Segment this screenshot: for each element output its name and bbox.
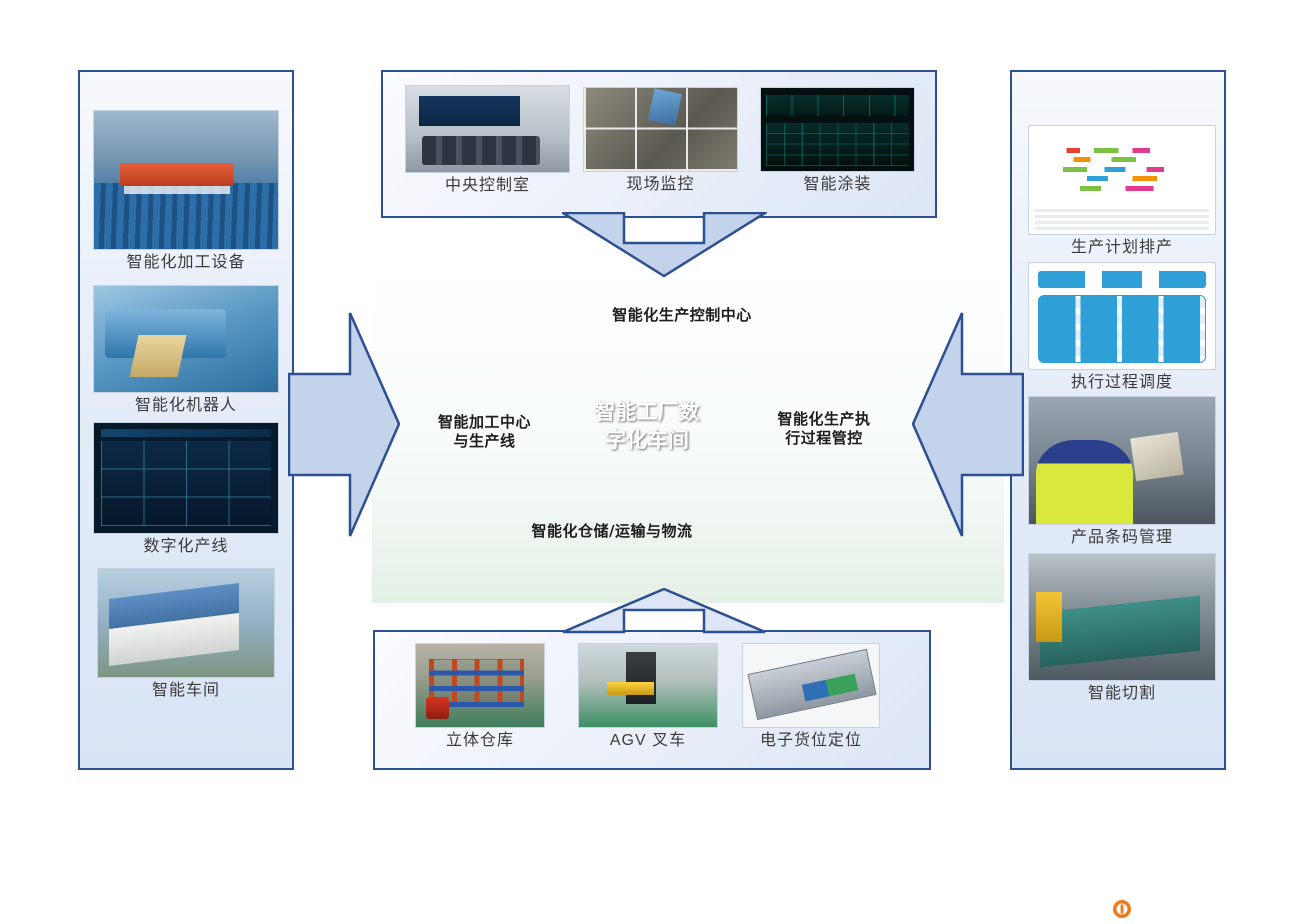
electronic-slot-locating-label: 电子货位定位 bbox=[742, 731, 880, 751]
smart-robot-label: 智能化机器人 bbox=[93, 396, 279, 416]
smart-painting-image bbox=[760, 87, 915, 172]
electronic-slot-locating-image bbox=[742, 643, 880, 728]
arrow-bottom-to-center bbox=[562, 588, 767, 634]
smart-robot-image bbox=[93, 285, 279, 393]
orange-circle-logo bbox=[1112, 899, 1132, 919]
core-label: 智能工厂数 字化车间 bbox=[567, 398, 727, 454]
production-plan-scheduling-label: 生产计划排产 bbox=[1028, 238, 1216, 258]
site-monitoring-label: 现场监控 bbox=[583, 175, 738, 195]
segment-label-execution-control: 智能化生产执 行过程管控 bbox=[754, 410, 894, 448]
arrow-right-to-center bbox=[912, 312, 1024, 537]
right-item-3[interactable]: 智能切割 bbox=[1028, 553, 1216, 704]
right-item-1[interactable]: 执行过程调度 bbox=[1028, 262, 1216, 393]
agv-forklift-image bbox=[578, 643, 718, 728]
stereoscopic-warehouse-image bbox=[415, 643, 545, 728]
smart-processing-equipment-label: 智能化加工设备 bbox=[93, 253, 279, 273]
right-item-0[interactable]: 生产计划排产 bbox=[1028, 125, 1216, 258]
left-item-1[interactable]: 智能化机器人 bbox=[93, 285, 279, 416]
top-item-2[interactable]: 智能涂装 bbox=[760, 87, 915, 195]
site-monitoring-image bbox=[583, 87, 738, 172]
digital-production-line-label: 数字化产线 bbox=[93, 537, 279, 557]
central-control-room-image bbox=[405, 85, 570, 173]
smart-workshop-label: 智能车间 bbox=[97, 681, 275, 701]
left-item-3[interactable]: 智能车间 bbox=[97, 568, 275, 701]
smart-workshop-image bbox=[97, 568, 275, 678]
digital-production-line-image bbox=[93, 422, 279, 534]
segment-label-machining-center: 智能加工中心 与生产线 bbox=[417, 413, 552, 451]
production-plan-scheduling-image bbox=[1028, 125, 1216, 235]
left-item-0[interactable]: 智能化加工设备 bbox=[93, 110, 279, 273]
top-item-1[interactable]: 现场监控 bbox=[583, 87, 738, 195]
product-barcode-management-label: 产品条码管理 bbox=[1028, 528, 1216, 548]
bottom-item-1[interactable]: AGV 叉车 bbox=[578, 643, 718, 751]
central-control-room-label: 中央控制室 bbox=[405, 176, 570, 196]
top-item-0[interactable]: 中央控制室 bbox=[405, 85, 570, 196]
arrow-top-to-center bbox=[562, 212, 767, 278]
smart-cutting-image bbox=[1028, 553, 1216, 681]
left-item-2[interactable]: 数字化产线 bbox=[93, 422, 279, 557]
bottom-item-2[interactable]: 电子货位定位 bbox=[742, 643, 880, 751]
smart-processing-equipment-image bbox=[93, 110, 279, 250]
arrow-left-to-center bbox=[288, 312, 400, 537]
diagram-canvas: 智能化加工设备 智能化机器人 数字化产线 智能车间 中央控制室 现场监控 bbox=[0, 0, 1298, 924]
agv-forklift-label: AGV 叉车 bbox=[578, 731, 718, 751]
bottom-item-0[interactable]: 立体仓库 bbox=[415, 643, 545, 751]
stereoscopic-warehouse-label: 立体仓库 bbox=[415, 731, 545, 751]
right-item-2[interactable]: 产品条码管理 bbox=[1028, 396, 1216, 548]
execution-process-dispatch-label: 执行过程调度 bbox=[1028, 373, 1216, 393]
segment-label-warehouse-logistics: 智能化仓储/运输与物流 bbox=[482, 522, 742, 541]
smart-cutting-label: 智能切割 bbox=[1028, 684, 1216, 704]
product-barcode-management-image bbox=[1028, 396, 1216, 525]
segment-label-control-center: 智能化生产控制中心 bbox=[567, 306, 797, 325]
smart-painting-label: 智能涂装 bbox=[760, 175, 915, 195]
execution-process-dispatch-image bbox=[1028, 262, 1216, 370]
